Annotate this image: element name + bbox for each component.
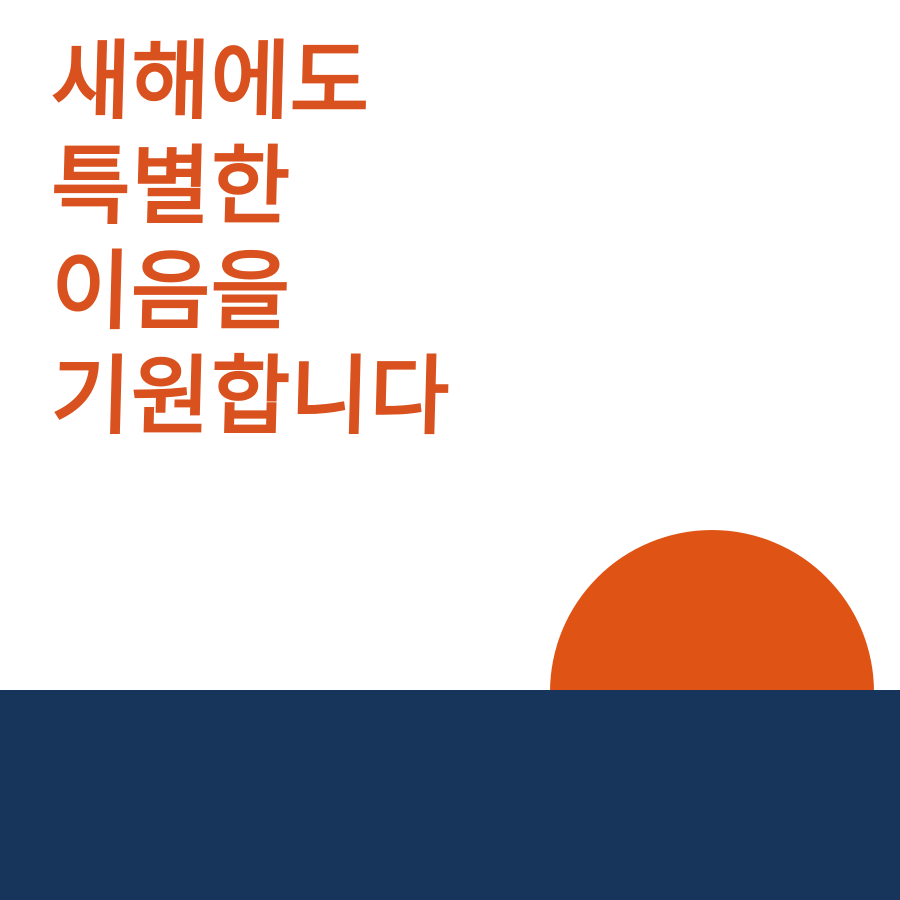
headline-text-block: 새해에도 특별한 이음을 기원합니다 — [50, 30, 850, 450]
navy-sea-band — [0, 690, 900, 900]
headline-line-3: 이음을 — [50, 240, 853, 345]
headline-line-1: 새해에도 — [50, 30, 853, 135]
headline-line-2: 특별한 — [50, 135, 853, 240]
greeting-card-canvas: 새해에도 특별한 이음을 기원합니다 — [0, 0, 900, 900]
headline-line-4: 기원합니다 — [50, 345, 853, 450]
